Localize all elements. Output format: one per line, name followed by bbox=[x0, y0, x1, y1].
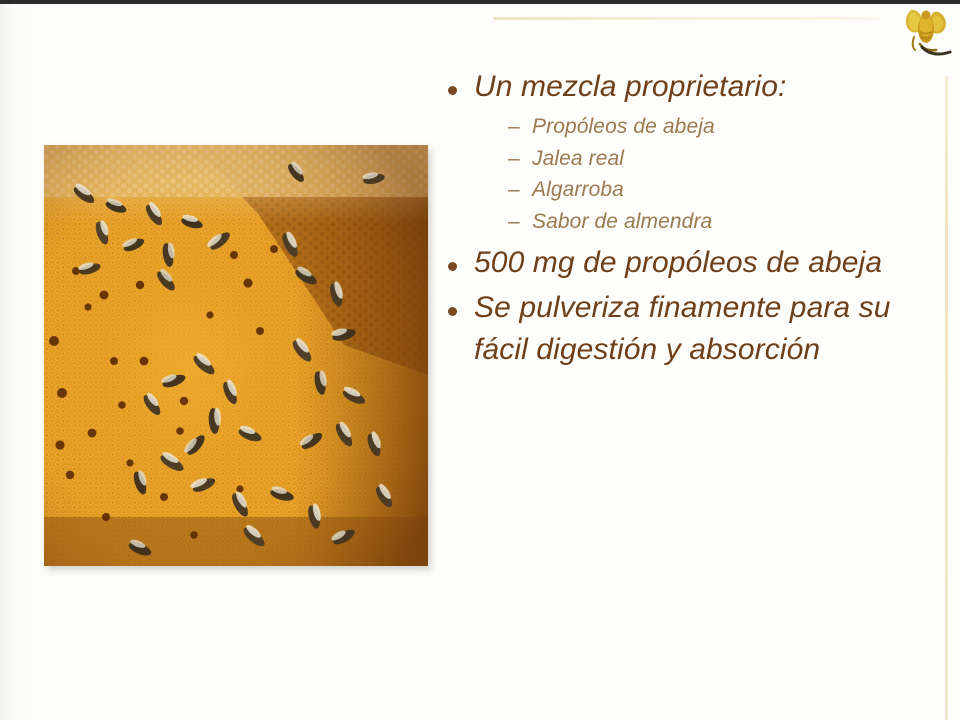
bullet-marker-icon bbox=[448, 287, 474, 321]
honeycomb-with-bees-photo bbox=[44, 145, 428, 566]
sub-bullet-item: – Jalea real bbox=[508, 143, 918, 175]
bullet-item: Se pulveriza finamente para su fácil dig… bbox=[448, 287, 918, 372]
gold-horizontal-rule bbox=[493, 17, 881, 20]
bullet-marker-icon bbox=[448, 66, 474, 100]
bullet-item: Un mezcla proprietario: bbox=[448, 66, 918, 109]
slide-canvas: Un mezcla proprietario: – Propóleos de a… bbox=[0, 0, 960, 720]
dash-marker-icon: – bbox=[508, 143, 532, 175]
bullet-text: Un mezcla proprietario: bbox=[474, 66, 918, 109]
dash-marker-icon: – bbox=[508, 174, 532, 206]
dash-marker-icon: – bbox=[508, 206, 532, 238]
sub-bullet-item: – Algarroba bbox=[508, 174, 918, 206]
bullet-marker-icon bbox=[448, 242, 474, 276]
sub-bullet-text: Sabor de almendra bbox=[532, 206, 918, 238]
sub-bullet-text: Algarroba bbox=[532, 174, 918, 206]
bullet-text: 500 mg de propóleos de abeja bbox=[474, 242, 918, 285]
dash-marker-icon: – bbox=[508, 111, 532, 143]
bee-logo bbox=[898, 2, 956, 62]
sub-bullet-item: – Sabor de almendra bbox=[508, 206, 918, 238]
gold-vertical-rule bbox=[945, 76, 948, 720]
bullet-text: Se pulveriza finamente para su fácil dig… bbox=[474, 287, 918, 372]
sub-bullet-list: – Propóleos de abeja – Jalea real – Alga… bbox=[448, 111, 918, 239]
sub-bullet-item: – Propóleos de abeja bbox=[508, 111, 918, 143]
bullet-item: 500 mg de propóleos de abeja bbox=[448, 242, 918, 285]
sub-bullet-text: Jalea real bbox=[532, 143, 918, 175]
sub-bullet-text: Propóleos de abeja bbox=[532, 111, 918, 143]
bullet-content: Un mezcla proprietario: – Propóleos de a… bbox=[448, 66, 918, 374]
